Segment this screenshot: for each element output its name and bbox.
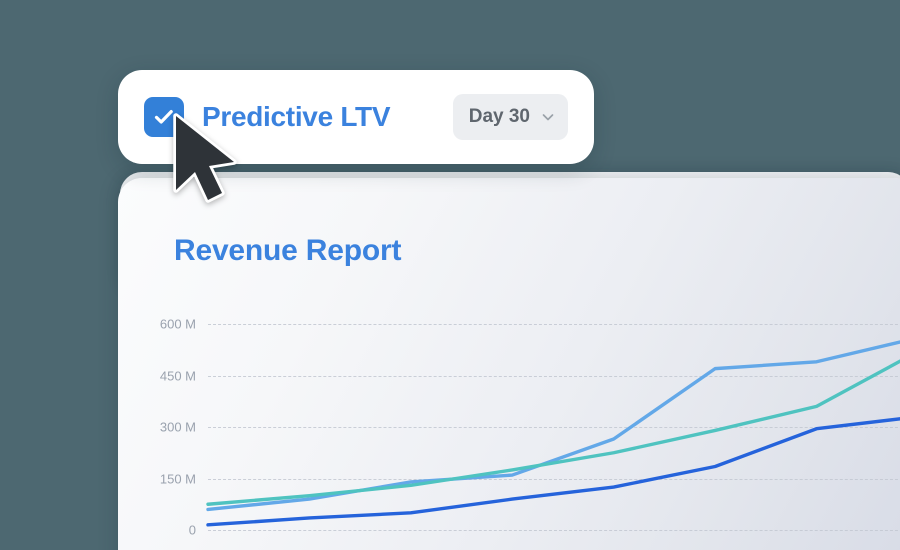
predictive-ltv-title: Predictive LTV [202,101,390,133]
page-title: Revenue Report [174,234,401,268]
y-axis-tick-label: 300 M [160,420,196,435]
line-chart: 0150 M300 M450 M600 M [208,324,900,530]
day-range-select-value: Day 30 [469,106,530,128]
predictive-ltv-checkbox[interactable] [144,97,184,137]
chart-series-lines [208,324,900,530]
day-range-select[interactable]: Day 30 [453,94,568,140]
chart-line [208,338,900,510]
y-axis-tick-label: 0 [189,523,196,538]
revenue-report-card: Revenue Report 0150 M300 M450 M600 M [118,178,900,550]
predictive-ltv-card: Predictive LTV Day 30 [118,70,594,164]
chevron-down-icon [540,109,556,125]
y-axis-tick-label: 450 M [160,368,196,383]
y-axis-tick-label: 600 M [160,317,196,332]
check-icon [151,104,177,130]
gridline [208,530,900,531]
y-axis-tick-label: 150 M [160,471,196,486]
chart-line [208,417,900,525]
chart-line [208,351,900,504]
